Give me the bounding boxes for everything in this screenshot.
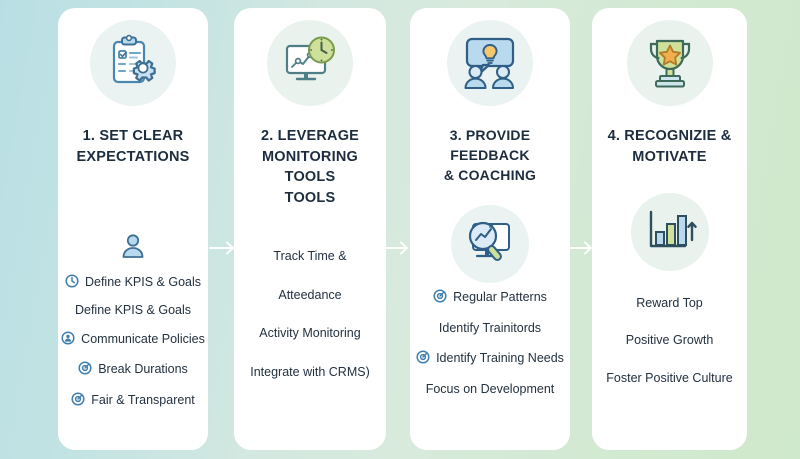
list-item-label: Focus on Development bbox=[426, 383, 555, 396]
list-item-label: Foster Positive Culture bbox=[606, 372, 732, 385]
arrow-step1-to-step2-icon bbox=[208, 239, 238, 257]
list-item-label: Fair & Transparent bbox=[91, 394, 195, 407]
list-item: Integrate with CRMS) bbox=[250, 366, 369, 379]
target-icon bbox=[78, 361, 92, 378]
list-item: Positive Growth bbox=[626, 334, 714, 347]
target-icon bbox=[433, 289, 447, 306]
list-item: Communicate Policies bbox=[61, 331, 205, 348]
list-item: Focus on Development bbox=[426, 383, 555, 396]
list-item-label: Define KPIS & Goals bbox=[75, 304, 191, 317]
list-item-label: Atteedance bbox=[278, 289, 341, 302]
list-item: Regular Patterns bbox=[433, 289, 547, 306]
list-item-label: Identify Training Needs bbox=[436, 352, 564, 365]
arrow-step2-to-step3-icon bbox=[382, 239, 412, 257]
list-item: Reward Top bbox=[636, 297, 702, 310]
step-title-1: 1. SET CLEAR EXPECTATIONS bbox=[76, 126, 189, 167]
step-bullets-3: Regular Patterns Identify Trainitords Id… bbox=[418, 289, 562, 395]
clipboard-gear-icon bbox=[90, 20, 176, 106]
bar-chart-arrow-icon bbox=[631, 193, 709, 271]
speech-bulb-people-icon bbox=[447, 20, 533, 106]
list-item-label: Break Durations bbox=[98, 363, 188, 376]
list-item-label: Activity Monitoring bbox=[259, 327, 360, 340]
list-item: Track Time & bbox=[273, 250, 346, 263]
step-card-1: 1. SET CLEAR EXPECTATIONS Define KPIS & … bbox=[58, 8, 208, 450]
people-icon bbox=[61, 331, 75, 348]
step-title-3: 3. PROVIDE FEEDBACK & COACHING bbox=[418, 126, 562, 186]
step-title-4: 4. RECOGNIZIE & MOTIVATE bbox=[608, 126, 732, 167]
infographic-board: 1. SET CLEAR EXPECTATIONS Define KPIS & … bbox=[0, 0, 800, 459]
list-item-label: Positive Growth bbox=[626, 334, 714, 347]
list-item: Fair & Transparent bbox=[71, 392, 195, 409]
list-item-label: Define KPIS & Goals bbox=[85, 276, 201, 289]
monitor-magnifier-icon bbox=[451, 205, 529, 283]
list-item: Define KPIS & Goals bbox=[65, 274, 201, 291]
clock-icon bbox=[65, 274, 79, 291]
list-item-label: Integrate with CRMS) bbox=[250, 366, 369, 379]
step-title-2: 2. LEVERAGE MONITORING TOOLS TOOLS bbox=[242, 126, 378, 208]
list-item: Identify Training Needs bbox=[416, 350, 564, 367]
monitor-clock-icon bbox=[267, 20, 353, 106]
step-card-2: 2. LEVERAGE MONITORING TOOLS TOOLS Track… bbox=[234, 8, 386, 450]
target-icon bbox=[71, 392, 85, 409]
list-item-label: Communicate Policies bbox=[81, 333, 205, 346]
step-bullets-4: Reward Top Positive Growth Foster Positi… bbox=[600, 297, 739, 385]
step-bullets-1: Define KPIS & Goals Define KPIS & Goals … bbox=[66, 274, 200, 409]
list-item: Atteedance bbox=[278, 289, 341, 302]
person-icon bbox=[119, 232, 147, 260]
target-icon bbox=[416, 350, 430, 367]
list-item: Foster Positive Culture bbox=[606, 372, 732, 385]
list-item-label: Reward Top bbox=[636, 297, 702, 310]
list-item-label: Identify Trainitords bbox=[439, 322, 541, 335]
list-item-label: Regular Patterns bbox=[453, 291, 547, 304]
arrow-step3-to-step4-icon bbox=[566, 239, 596, 257]
list-item-label: Track Time & bbox=[273, 250, 346, 263]
list-item: Identify Trainitords bbox=[439, 322, 541, 335]
trophy-star-icon bbox=[627, 20, 713, 106]
list-item: Activity Monitoring bbox=[259, 327, 360, 340]
step-bullets-2: Track Time & Atteedance Activity Monitor… bbox=[242, 250, 378, 378]
step-card-4: 4. RECOGNIZIE & MOTIVATE Reward Top Posi… bbox=[592, 8, 747, 450]
list-item: Define KPIS & Goals bbox=[75, 304, 191, 317]
list-item: Break Durations bbox=[78, 361, 188, 378]
step-card-3: 3. PROVIDE FEEDBACK & COACHING bbox=[410, 8, 570, 450]
